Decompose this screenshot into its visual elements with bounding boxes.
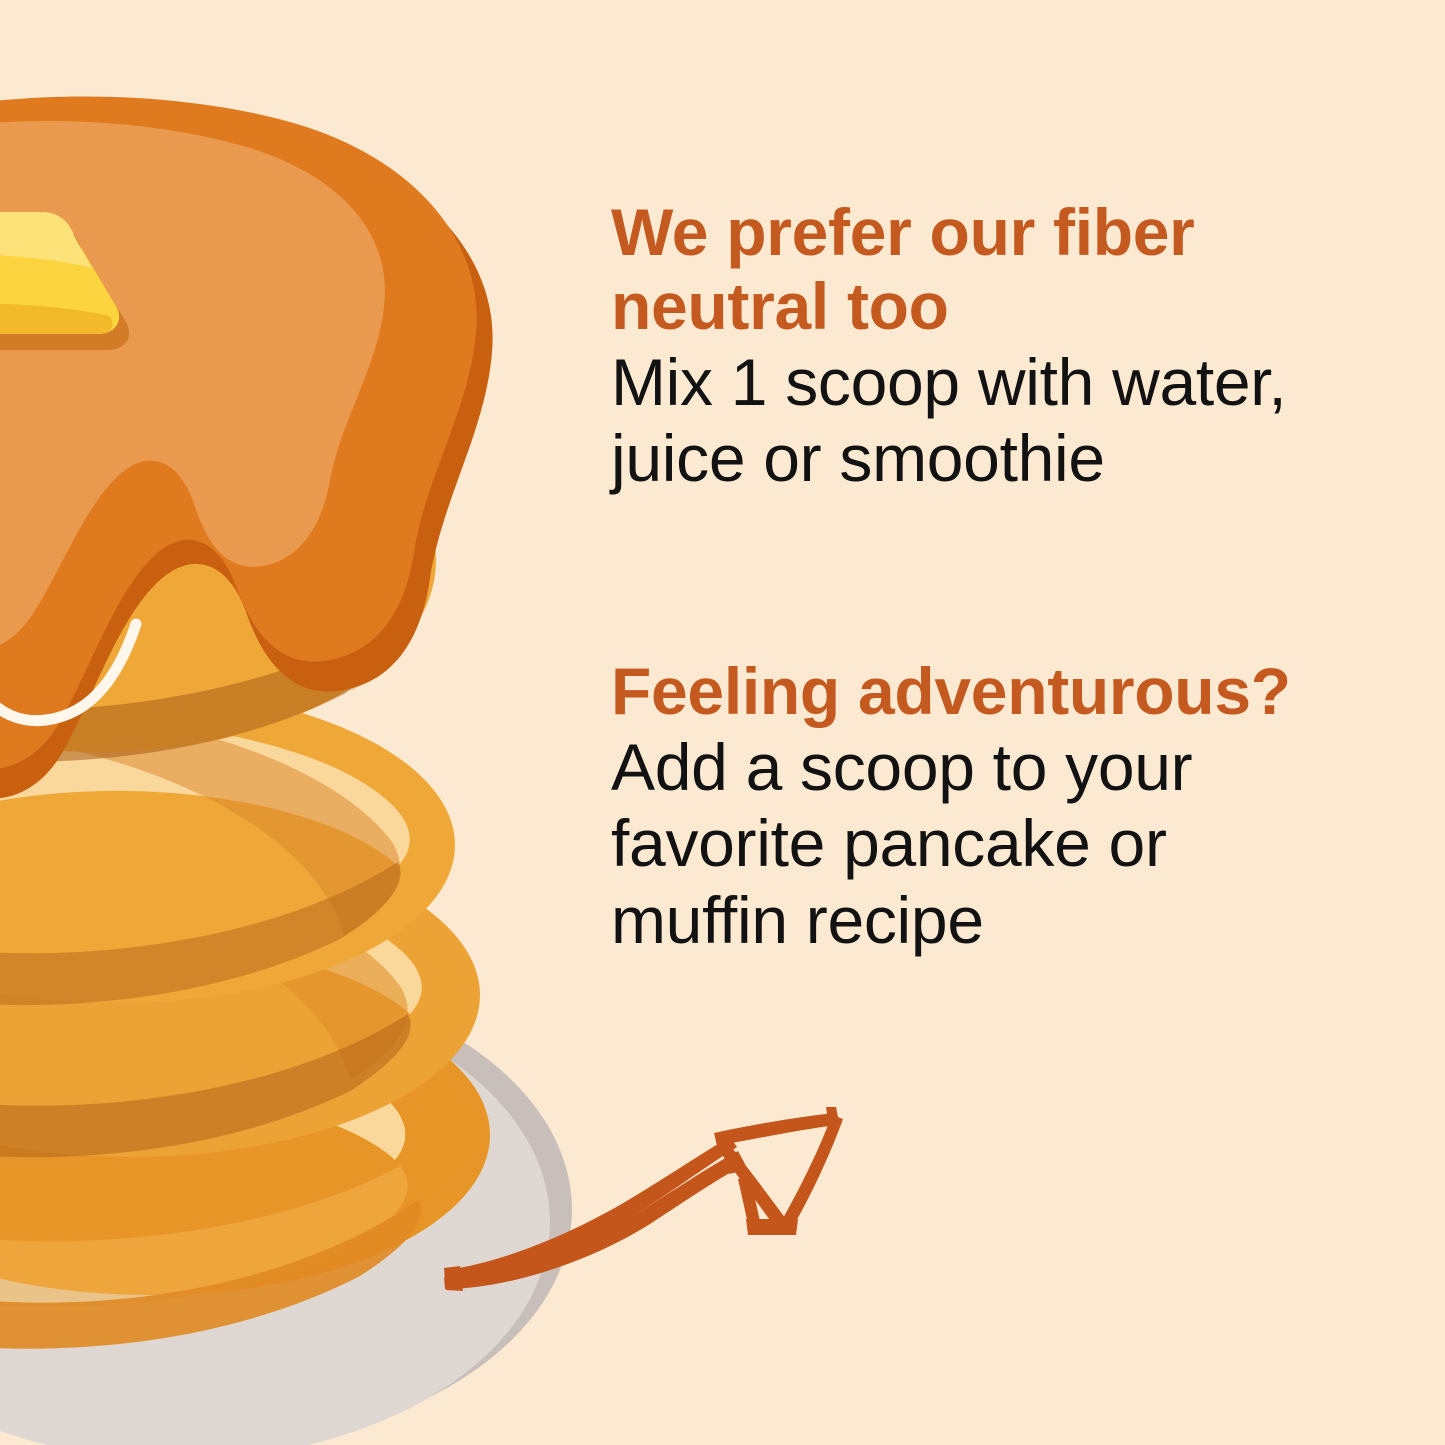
body-two-line-1: Add a scoop to your (611, 729, 1401, 806)
body-one-line-1: Mix 1 scoop with water, (611, 344, 1401, 421)
arrow-shaft-upper (446, 1137, 737, 1282)
promo-panel: We prefer our fiber neutral too Mix 1 sc… (0, 0, 1445, 1445)
arrowhead-upper-barb (714, 1113, 836, 1146)
heading-one: We prefer our fiber neutral too (611, 196, 1401, 344)
heading-two: Feeling adventurous? (611, 655, 1401, 729)
copy-column: We prefer our fiber neutral too Mix 1 sc… (611, 196, 1401, 958)
body-two-line-3: muffin recipe (611, 882, 1401, 959)
heading-one-line-1: We prefer our fiber (611, 196, 1401, 270)
body-two-line-2: favorite pancake or (611, 805, 1401, 882)
body-one-line-2: juice or smoothie (611, 420, 1401, 497)
arrow-strokes (444, 1107, 843, 1291)
heading-one-line-2: neutral too (611, 270, 1401, 344)
arrowhead-bottom-point (746, 1219, 798, 1235)
body-two: Add a scoop to your favorite pancake or … (611, 729, 1401, 959)
copy-block-one: We prefer our fiber neutral too Mix 1 sc… (611, 196, 1401, 497)
copy-block-two: Feeling adventurous? Add a scoop to your… (611, 655, 1401, 959)
body-one: Mix 1 scoop with water, juice or smoothi… (611, 344, 1401, 497)
heading-two-line-1: Feeling adventurous? (611, 655, 1401, 729)
arrow-tail-hook (444, 1266, 463, 1291)
curved-up-right-arrow (430, 1095, 890, 1325)
